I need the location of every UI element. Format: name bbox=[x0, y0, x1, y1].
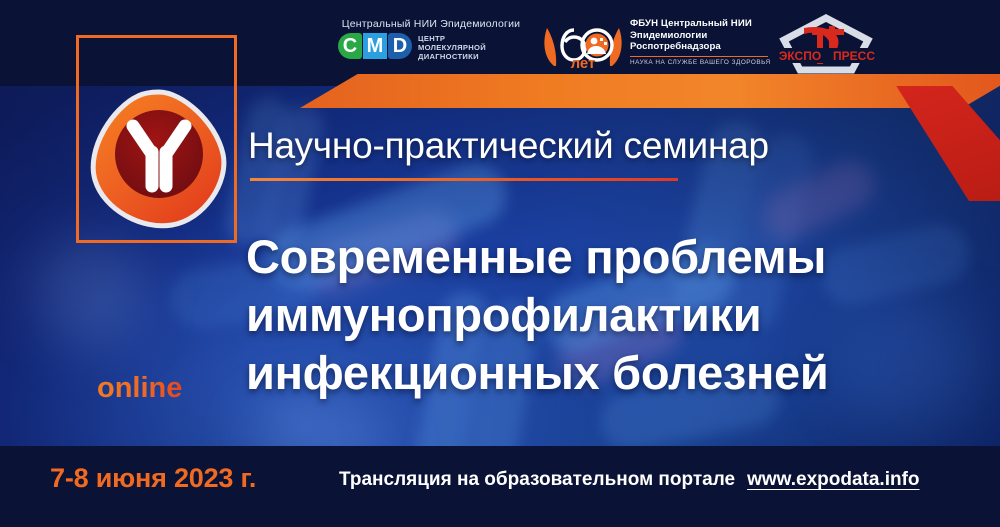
cmd-letter-c: C bbox=[338, 33, 362, 59]
cnii-text-block: ФБУН Центральный НИИ Эпидемиологии Роспо… bbox=[630, 18, 772, 66]
online-badge: online bbox=[97, 372, 182, 405]
cmd-sub-line-2: МОЛЕКУЛЯРНОЙ bbox=[418, 43, 486, 52]
svg-text:ПРЕСС: ПРЕСС bbox=[833, 49, 875, 63]
cnii-logo: лет ФБУН Центральный НИИ Эпидемиологии Р… bbox=[540, 16, 770, 76]
event-dates: 7-8 июня 2023 г. bbox=[50, 463, 256, 494]
cmd-sub-line-3: ДИАГНОСТИКИ bbox=[418, 52, 486, 61]
expopress-logo: ЭКСПО ПРЕСС bbox=[768, 12, 884, 76]
event-subtitle: Научно-практический семинар bbox=[248, 125, 769, 167]
cnii-divider bbox=[630, 56, 768, 58]
broadcast-url-link[interactable]: www.expodata.info bbox=[747, 469, 919, 490]
cmd-letter-m: M bbox=[363, 33, 387, 59]
cmd-letter-blocks: C M D bbox=[338, 33, 412, 59]
partner-logos: Центральный НИИ Эпидемиологии C M D ЦЕНТ… bbox=[0, 0, 1000, 88]
broadcast-label: Трансляция на образовательном портале bbox=[339, 469, 735, 490]
cnii-line-2: Эпидемиологии bbox=[630, 30, 772, 42]
cmd-letter-d: D bbox=[388, 33, 412, 59]
broadcast-info: Трансляция на образовательном порталеwww… bbox=[339, 469, 920, 491]
cnii-line-3: Роспотребнадзора bbox=[630, 41, 772, 53]
anniversary-60-icon: лет bbox=[540, 20, 626, 72]
svg-text:лет: лет bbox=[571, 55, 596, 72]
headline-line-3: инфекционных болезней bbox=[246, 344, 946, 402]
cmd-top-line: Центральный НИИ Эпидемиологии bbox=[338, 18, 524, 30]
subtitle-underline bbox=[250, 178, 678, 181]
cmd-logo: Центральный НИИ Эпидемиологии C M D ЦЕНТ… bbox=[338, 18, 528, 74]
event-banner: Центральный НИИ Эпидемиологии C M D ЦЕНТ… bbox=[0, 0, 1000, 527]
headline-line-2: иммунопрофилактики bbox=[246, 286, 946, 344]
cmd-sub-line-1: ЦЕНТР bbox=[418, 34, 486, 43]
headline-line-1: Современные проблемы bbox=[246, 228, 946, 286]
cmd-subtitle: ЦЕНТР МОЛЕКУЛЯРНОЙ ДИАГНОСТИКИ bbox=[418, 33, 486, 61]
svg-text:ЭКСПО: ЭКСПО bbox=[779, 49, 821, 63]
antibody-icon bbox=[86, 86, 232, 232]
cnii-tagline: НАУКА НА СЛУЖБЕ ВАШЕГО ЗДОРОВЬЯ bbox=[630, 59, 772, 66]
event-headline: Современные проблемы иммунопрофилактики … bbox=[246, 228, 946, 402]
cnii-line-1: ФБУН Центральный НИИ bbox=[630, 18, 772, 30]
